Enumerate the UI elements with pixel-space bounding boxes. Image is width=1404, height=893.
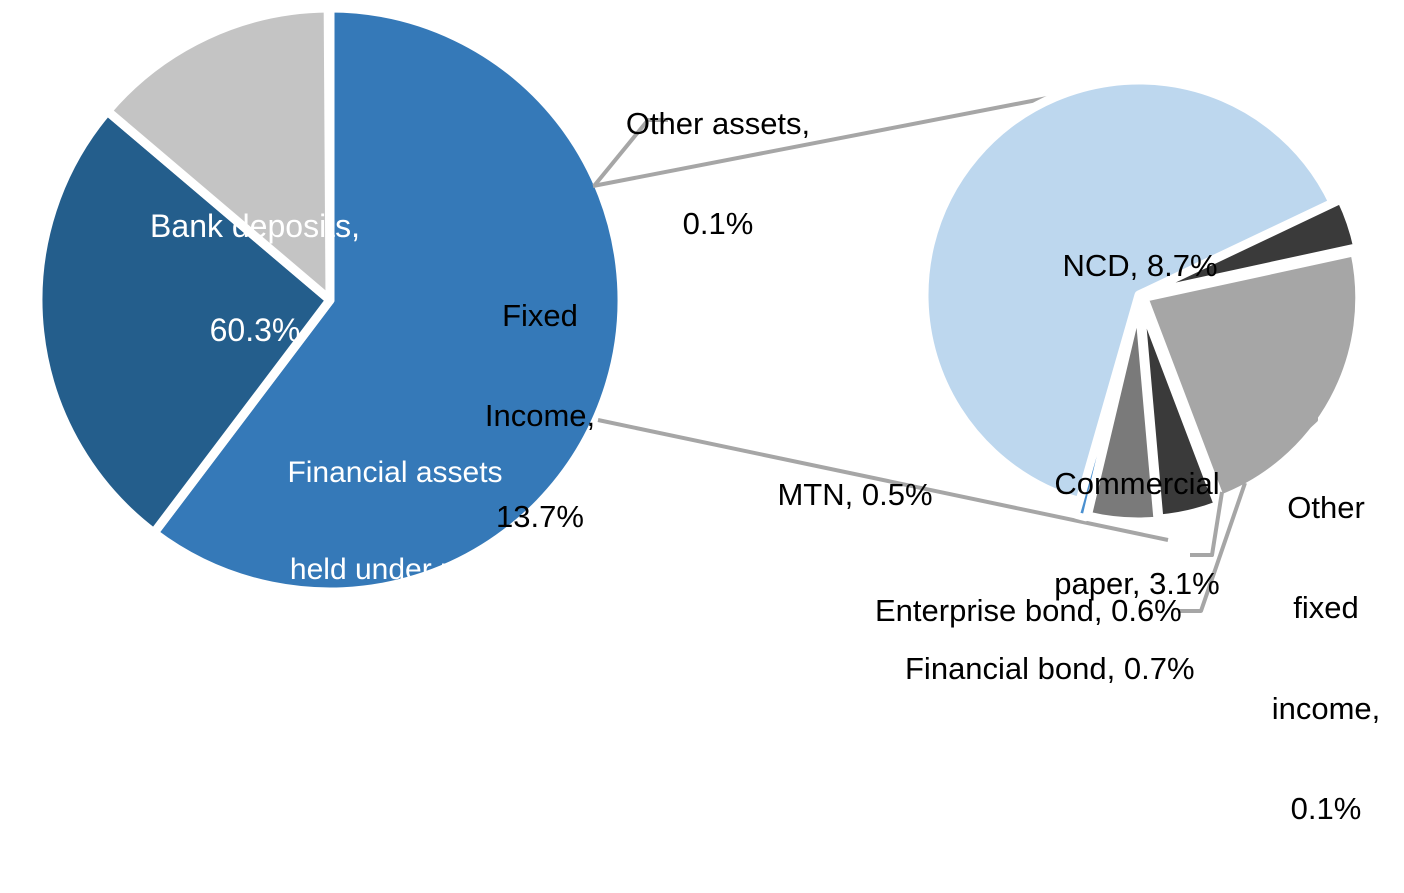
label-bank-deposits-line2: 60.3% xyxy=(110,313,400,348)
label-repo-line4: 25.9% xyxy=(245,748,545,780)
label-commercial-paper-line1: Commercial xyxy=(1024,467,1250,500)
label-bank-deposits: Bank deposits, 60.3% xyxy=(110,140,400,416)
label-other-fixed-income-line2: fixed xyxy=(1248,591,1404,624)
label-fixed-income-line1: Fixed xyxy=(460,299,620,332)
label-ncd-text: NCD, 8.7% xyxy=(1000,249,1280,282)
label-bank-deposits-line1: Bank deposits, xyxy=(110,209,400,244)
label-fixed-income: Fixed Income, 13.7% xyxy=(460,232,620,600)
label-fixed-income-line2: Income, xyxy=(460,399,620,432)
label-ncd: NCD, 8.7% xyxy=(1000,182,1280,349)
label-other-fixed-income: Other fixed income, 0.1% xyxy=(1248,424,1404,893)
label-other-fixed-income-line3: income, xyxy=(1248,692,1404,725)
pie-of-pie-chart: Bank deposits, 60.3% Financial assets he… xyxy=(0,0,1404,644)
label-fixed-income-line3: 13.7% xyxy=(460,500,620,533)
label-other-assets-line2: 0.1% xyxy=(600,207,836,240)
label-other-fixed-income-line1: Other xyxy=(1248,491,1404,524)
label-mtn-text: MTN, 0.5% xyxy=(760,478,950,511)
label-other-assets: Other assets, 0.1% xyxy=(600,40,836,308)
label-other-assets-line1: Other assets, xyxy=(600,107,836,140)
label-financial-bond: Financial bond, 0.7% xyxy=(905,585,1195,752)
label-repo-line3: agreements, xyxy=(245,651,545,683)
label-other-fixed-income-line4: 0.1% xyxy=(1248,792,1404,825)
label-financial-bond-text: Financial bond, 0.7% xyxy=(905,652,1195,685)
